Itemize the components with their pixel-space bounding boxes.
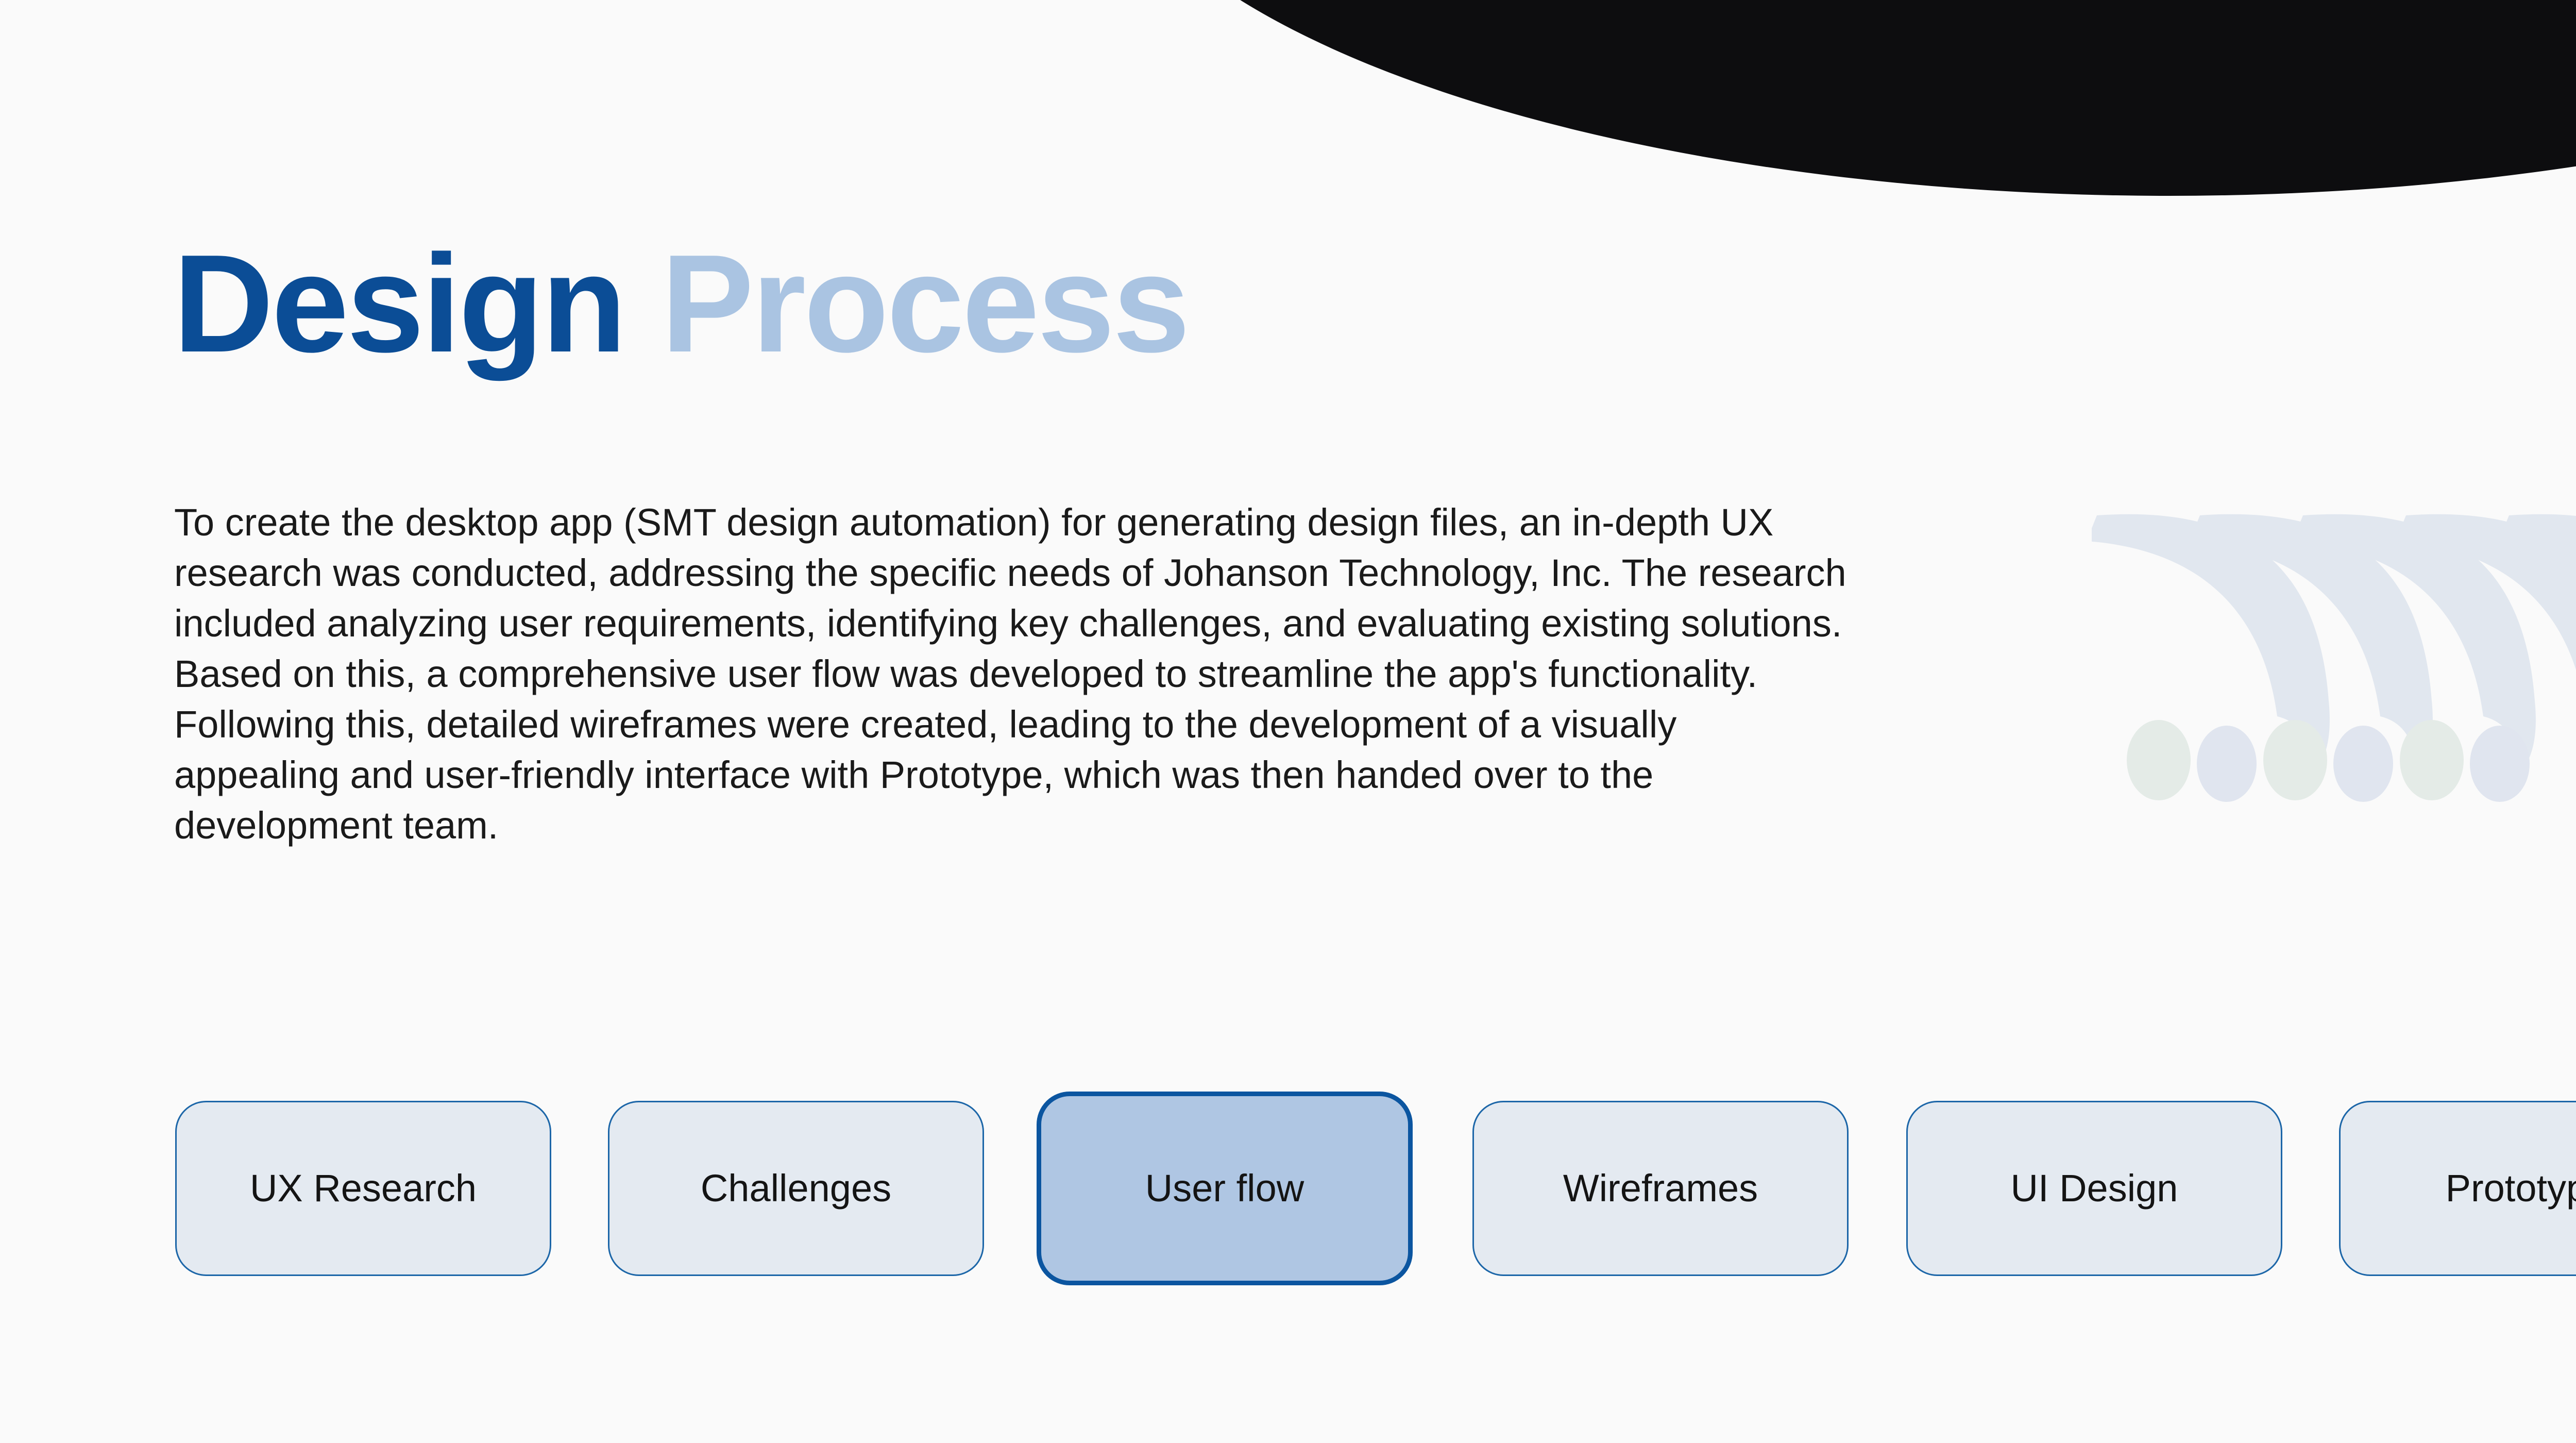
page-title: Design Process (173, 234, 1188, 374)
step-button-user-flow[interactable]: User flow (1037, 1092, 1413, 1285)
intro-paragraph: To create the desktop app (SMT design au… (174, 497, 1849, 851)
step-button-prototype[interactable]: Prototype (2339, 1101, 2576, 1276)
swoosh-dots (2127, 720, 2530, 802)
step-button-wireframes[interactable]: Wireframes (1472, 1101, 1849, 1276)
step-label: Prototype (2446, 1169, 2576, 1207)
step-label: Challenges (701, 1169, 891, 1207)
swoosh-trails (2092, 514, 2576, 773)
process-steps-row: UX Research Challenges User flow Wirefra… (0, 1092, 2576, 1287)
slide-content: Design Process To create the desktop app… (0, 0, 2576, 1443)
step-button-ui-design[interactable]: UI Design (1906, 1101, 2282, 1276)
step-label: Wireframes (1563, 1169, 1758, 1207)
page-title-primary: Design (173, 226, 624, 381)
step-label: UI Design (2011, 1169, 2178, 1207)
swoosh-decoration (2092, 484, 2576, 804)
page-title-secondary: Process (661, 226, 1188, 381)
step-button-ux-research[interactable]: UX Research (175, 1101, 551, 1276)
step-button-challenges[interactable]: Challenges (608, 1101, 984, 1276)
step-label: UX Research (250, 1169, 477, 1207)
step-label: User flow (1145, 1169, 1304, 1207)
